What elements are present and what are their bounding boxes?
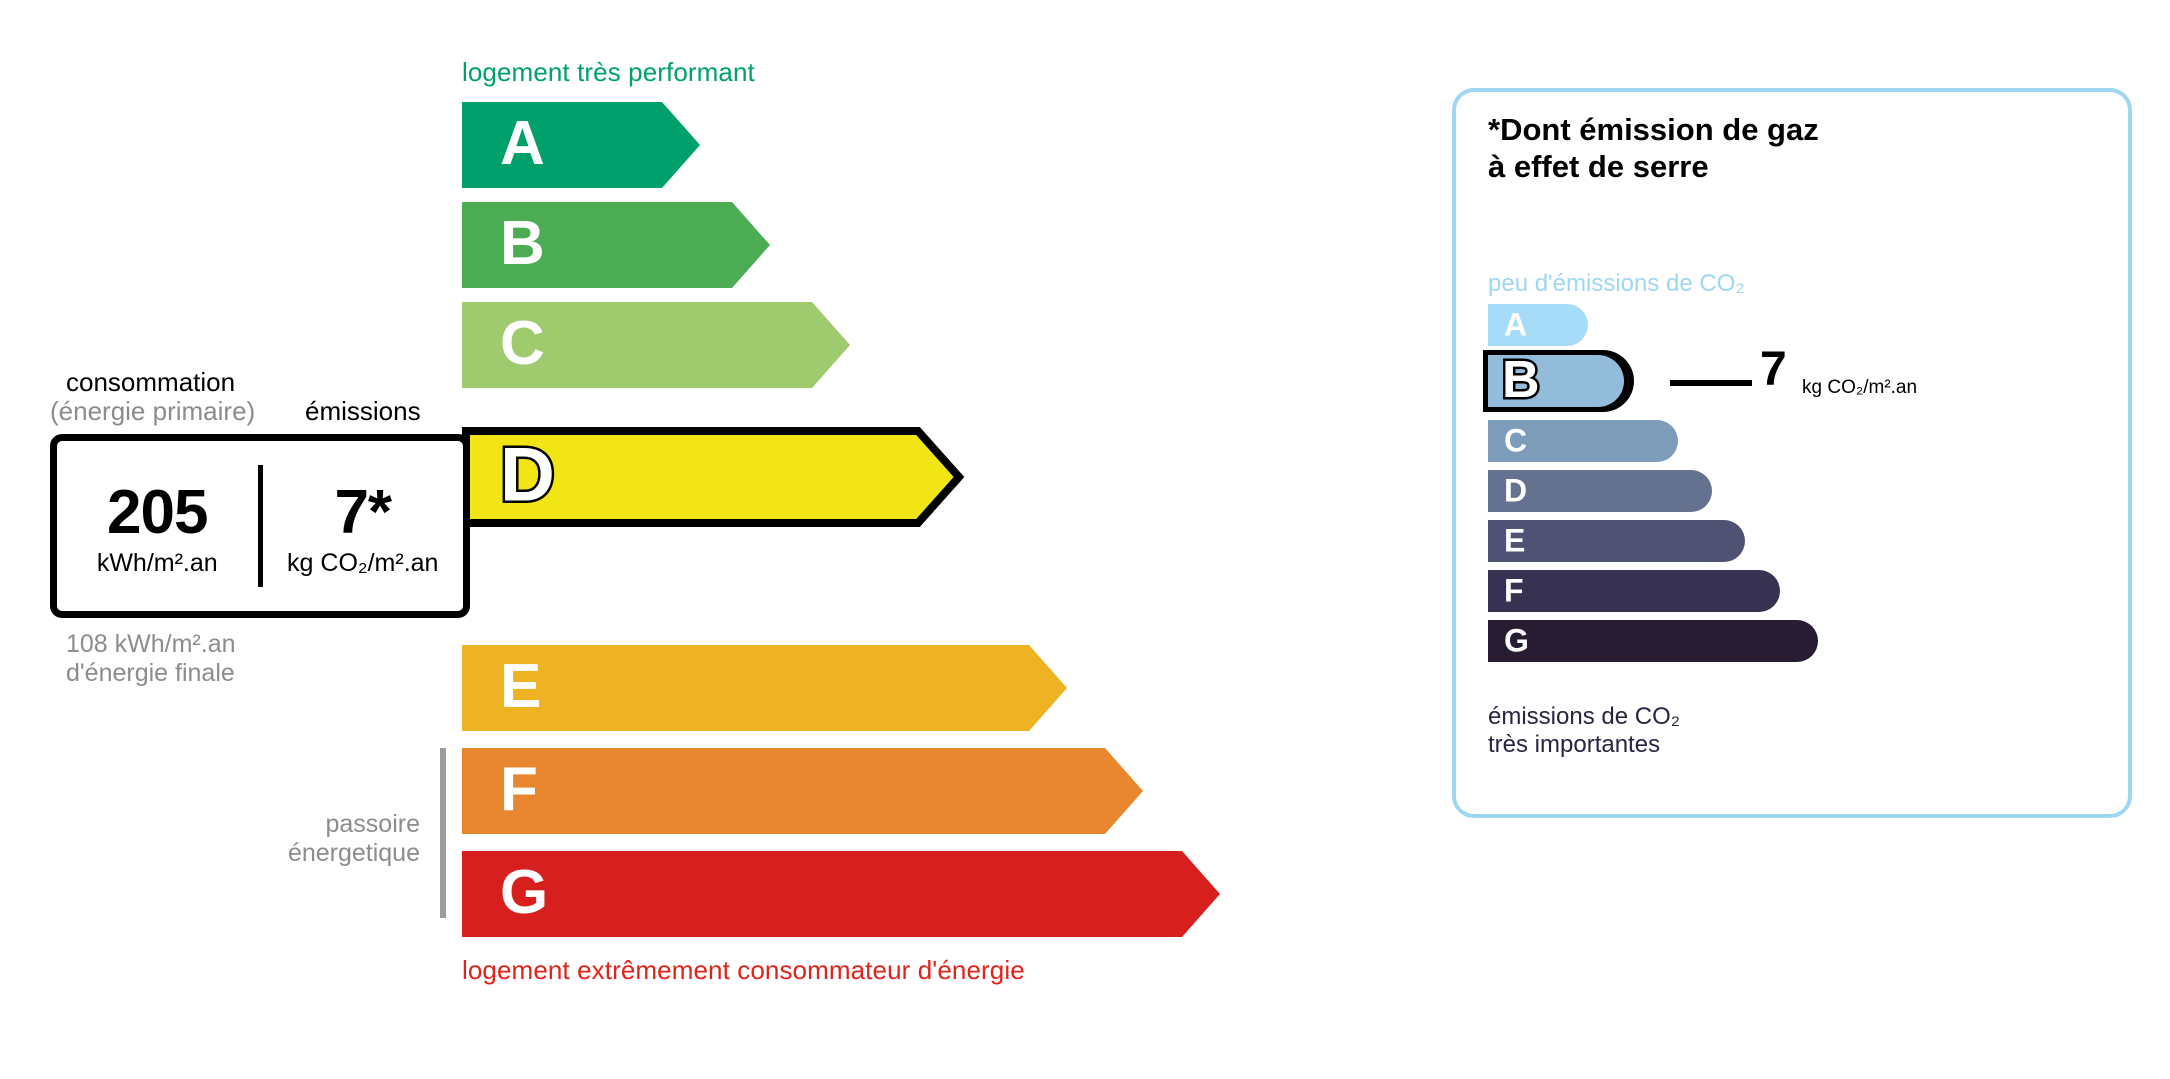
co2-bar-g-letter: G bbox=[1504, 624, 1529, 656]
energy-bar-d-letter: D bbox=[500, 437, 555, 513]
consumption-value: 205 bbox=[57, 480, 258, 545]
co2-bottom-caption: émissions de CO₂ très importantes bbox=[1488, 703, 1680, 760]
co2-bar-c-letter: C bbox=[1504, 424, 1527, 456]
emissions-header: émissions bbox=[305, 396, 421, 427]
consumption-cell: 205 kWh/m².an bbox=[57, 474, 258, 577]
energy-bottom-caption: logement extrêmement consommateur d'éner… bbox=[462, 955, 1025, 986]
co2-top-caption: peu d'émissions de CO₂ bbox=[1488, 270, 1745, 298]
energy-bar-f-shape bbox=[462, 748, 1143, 834]
energy-bar-g: G bbox=[462, 851, 1220, 937]
energy-bar-g-shape bbox=[462, 851, 1220, 937]
co2-bar-a-shape bbox=[1488, 304, 1588, 346]
co2-bar-g-shape bbox=[1488, 620, 1818, 662]
energy-bar-b: B bbox=[462, 202, 770, 288]
energy-bar-a-letter: A bbox=[500, 113, 545, 175]
energy-bar-d-selected: D bbox=[462, 427, 965, 527]
value-box: 205 kWh/m².an 7* kg CO₂/m².an bbox=[50, 434, 470, 618]
energy-bar-e-letter: E bbox=[500, 656, 541, 718]
co2-bar-f-shape bbox=[1488, 570, 1780, 612]
energy-bar-a-shape bbox=[462, 102, 700, 188]
co2-emissions-panel: *Dont émission de gaz à effet de serre p… bbox=[1452, 88, 2132, 818]
dpe-diagram: logement très performant A B C bbox=[0, 0, 2170, 1079]
co2-bar-d-letter: D bbox=[1504, 474, 1527, 506]
final-energy-note: 108 kWh/m².an d'énergie finale bbox=[66, 630, 236, 688]
consumption-header: consommation bbox=[66, 367, 235, 398]
co2-leader-line bbox=[1670, 380, 1752, 386]
energy-bar-e-shape bbox=[462, 645, 1067, 731]
energy-bar-c: C bbox=[462, 302, 850, 388]
emissions-value: 7* bbox=[263, 480, 464, 545]
co2-bar-b-letter: B bbox=[1502, 354, 1540, 406]
energy-bar-g-letter: G bbox=[500, 862, 548, 924]
consumption-unit: kWh/m².an bbox=[57, 548, 258, 578]
energy-bar-f-letter: F bbox=[500, 759, 538, 821]
passoire-marker-line bbox=[440, 748, 446, 918]
emissions-unit: kg CO₂/m².an bbox=[263, 548, 464, 578]
co2-value-unit: kg CO₂/m².an bbox=[1802, 377, 1917, 399]
co2-bar-a-letter: A bbox=[1504, 308, 1527, 340]
co2-bar-e-letter: E bbox=[1504, 524, 1525, 556]
co2-bar-f-letter: F bbox=[1504, 574, 1524, 606]
passoire-label: passoire énergetique bbox=[180, 810, 420, 868]
co2-value: 7 bbox=[1760, 346, 1787, 394]
energy-top-caption: logement très performant bbox=[462, 57, 755, 88]
consumption-subheader: (énergie primaire) bbox=[50, 396, 255, 427]
co2-bar-e-shape bbox=[1488, 520, 1745, 562]
energy-performance-panel: logement très performant A B C bbox=[0, 0, 1400, 1079]
energy-bar-a: A bbox=[462, 102, 700, 188]
energy-bar-e: E bbox=[462, 645, 1067, 731]
energy-bar-f: F bbox=[462, 748, 1143, 834]
emissions-cell: 7* kg CO₂/m².an bbox=[263, 474, 464, 577]
energy-bar-c-letter: C bbox=[500, 313, 545, 375]
energy-bar-b-letter: B bbox=[500, 213, 545, 275]
co2-panel-title: *Dont émission de gaz à effet de serre bbox=[1488, 112, 1819, 185]
